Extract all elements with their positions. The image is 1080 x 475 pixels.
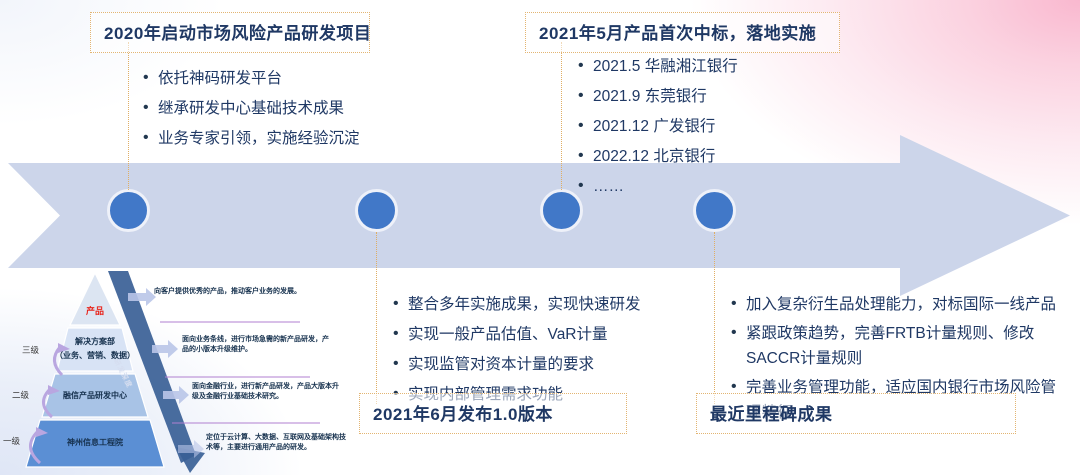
list-item: …… [593, 174, 875, 199]
timeline-dot-1[interactable] [107, 189, 150, 232]
pyramid-level-4-desc: 定位于云计算、大数据、互联网及基础架构技术等，主要进行通用产品的研发。 [206, 433, 346, 453]
milestone-3-bullets: 2021.5 华融湘江银行 2021.9 东莞银行 2021.12 广发银行 2… [575, 54, 875, 205]
milestone-2-title: 2021年6月发布1.0版本 [359, 393, 627, 434]
connector-line-1 [128, 42, 129, 190]
connector-line-3 [561, 42, 562, 190]
connector-line-2 [376, 232, 377, 404]
list-item: 2021.5 华融湘江银行 [593, 54, 875, 79]
list-item: 依托神码研发平台 [158, 66, 430, 91]
milestone-1-bullets: 依托神码研发平台 继承研发中心基础技术成果 业务专家引领，实施经验沉淀 [140, 66, 430, 156]
milestone-1-title: 2020年启动市场风险产品研发项目 [90, 12, 370, 53]
list-item: 业务专家引领，实施经验沉淀 [158, 126, 430, 151]
pyramid-diagram: 研发深度 产品 解决方案部 （业务、营销、数据） 融信产品研发中心 神州信息工程… [0, 265, 350, 475]
pyramid-tier-label-3: 三级 [22, 344, 39, 356]
list-item: 2021.9 东莞银行 [593, 84, 875, 109]
timeline-dot-2[interactable] [355, 189, 398, 232]
list-item: 2021.12 广发银行 [593, 114, 875, 139]
pyramid-tier-label-2: 二级 [12, 389, 29, 401]
pyramid-tier-label-1: 一级 [3, 435, 20, 447]
list-item: 实现监管对资本计量的要求 [408, 352, 680, 377]
milestone-3-title: 2021年5月产品首次中标，落地实施 [525, 12, 840, 53]
pyramid-level-2-desc: 面向业务条线，进行市场急需的新产品研发，产品的小版本升级维护。 [182, 335, 332, 355]
list-item: 实现一般产品估值、VaR计量 [408, 322, 680, 347]
milestone-4-title: 最近里程碑成果 [696, 393, 1016, 434]
pyramid-level-1-desc: 向客户提供优秀的产品，推动客户业务的发展。 [154, 287, 324, 297]
pyramid-level-3-desc: 面向金融行业，进行新产品研发，产品大版本升级及金融行业基础技术研究。 [192, 382, 342, 402]
list-item: 加入复杂衍生品处理能力，对标国际一线产品 [746, 292, 1068, 317]
list-item: 紧跟政策趋势，完善FRTB计量规则、修改SACCR计量规则 [746, 321, 1068, 371]
list-item: 继承研发中心基础技术成果 [158, 96, 430, 121]
connector-line-4 [714, 232, 715, 404]
list-item: 整合多年实施成果，实现快速研发 [408, 292, 680, 317]
list-item: 2022.12 北京银行 [593, 144, 875, 169]
